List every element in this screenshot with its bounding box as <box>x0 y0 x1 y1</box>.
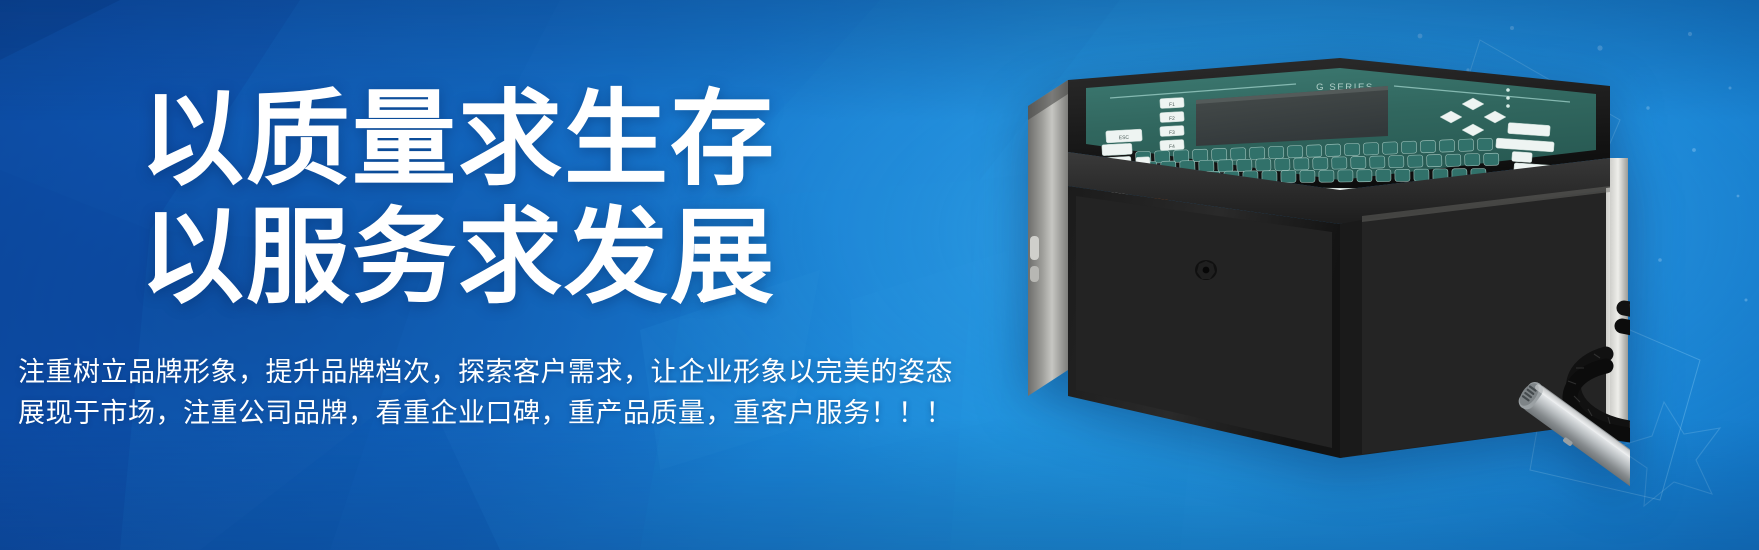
promo-banner: G SERIES F1 F2 F3 F4 ESC <box>0 0 1759 550</box>
headline: 以质量求生存 以服务求发展 <box>140 88 776 310</box>
svg-text:F2: F2 <box>1169 116 1175 122</box>
svg-text:F3: F3 <box>1169 130 1175 136</box>
svg-text:ESC: ESC <box>1119 135 1130 142</box>
copy-block: 以质量求生存 以服务求发展 注重树立品牌形象，提升品牌档次，探索客户需求，让企业… <box>0 0 1010 550</box>
svg-text:F4: F4 <box>1169 144 1175 150</box>
subcopy-line-1: 注重树立品牌形象，提升品牌档次，探索客户需求，让企业形象以完美的姿态 <box>18 352 998 393</box>
headline-line-2: 以服务求发展 <box>140 206 776 310</box>
svg-text:F1: F1 <box>1169 102 1175 108</box>
headline-line-1: 以质量求生存 <box>140 82 776 198</box>
subcopy: 注重树立品牌形象，提升品牌档次，探索客户需求，让企业形象以完美的姿态 展现于市场… <box>18 352 998 434</box>
product-image-inkjet-printer: G SERIES F1 F2 F3 F4 ESC <box>1010 40 1630 510</box>
subcopy-line-2: 展现于市场，注重公司品牌，看重企业口碑，重产品质量，重客户服务！！！ <box>18 393 998 434</box>
